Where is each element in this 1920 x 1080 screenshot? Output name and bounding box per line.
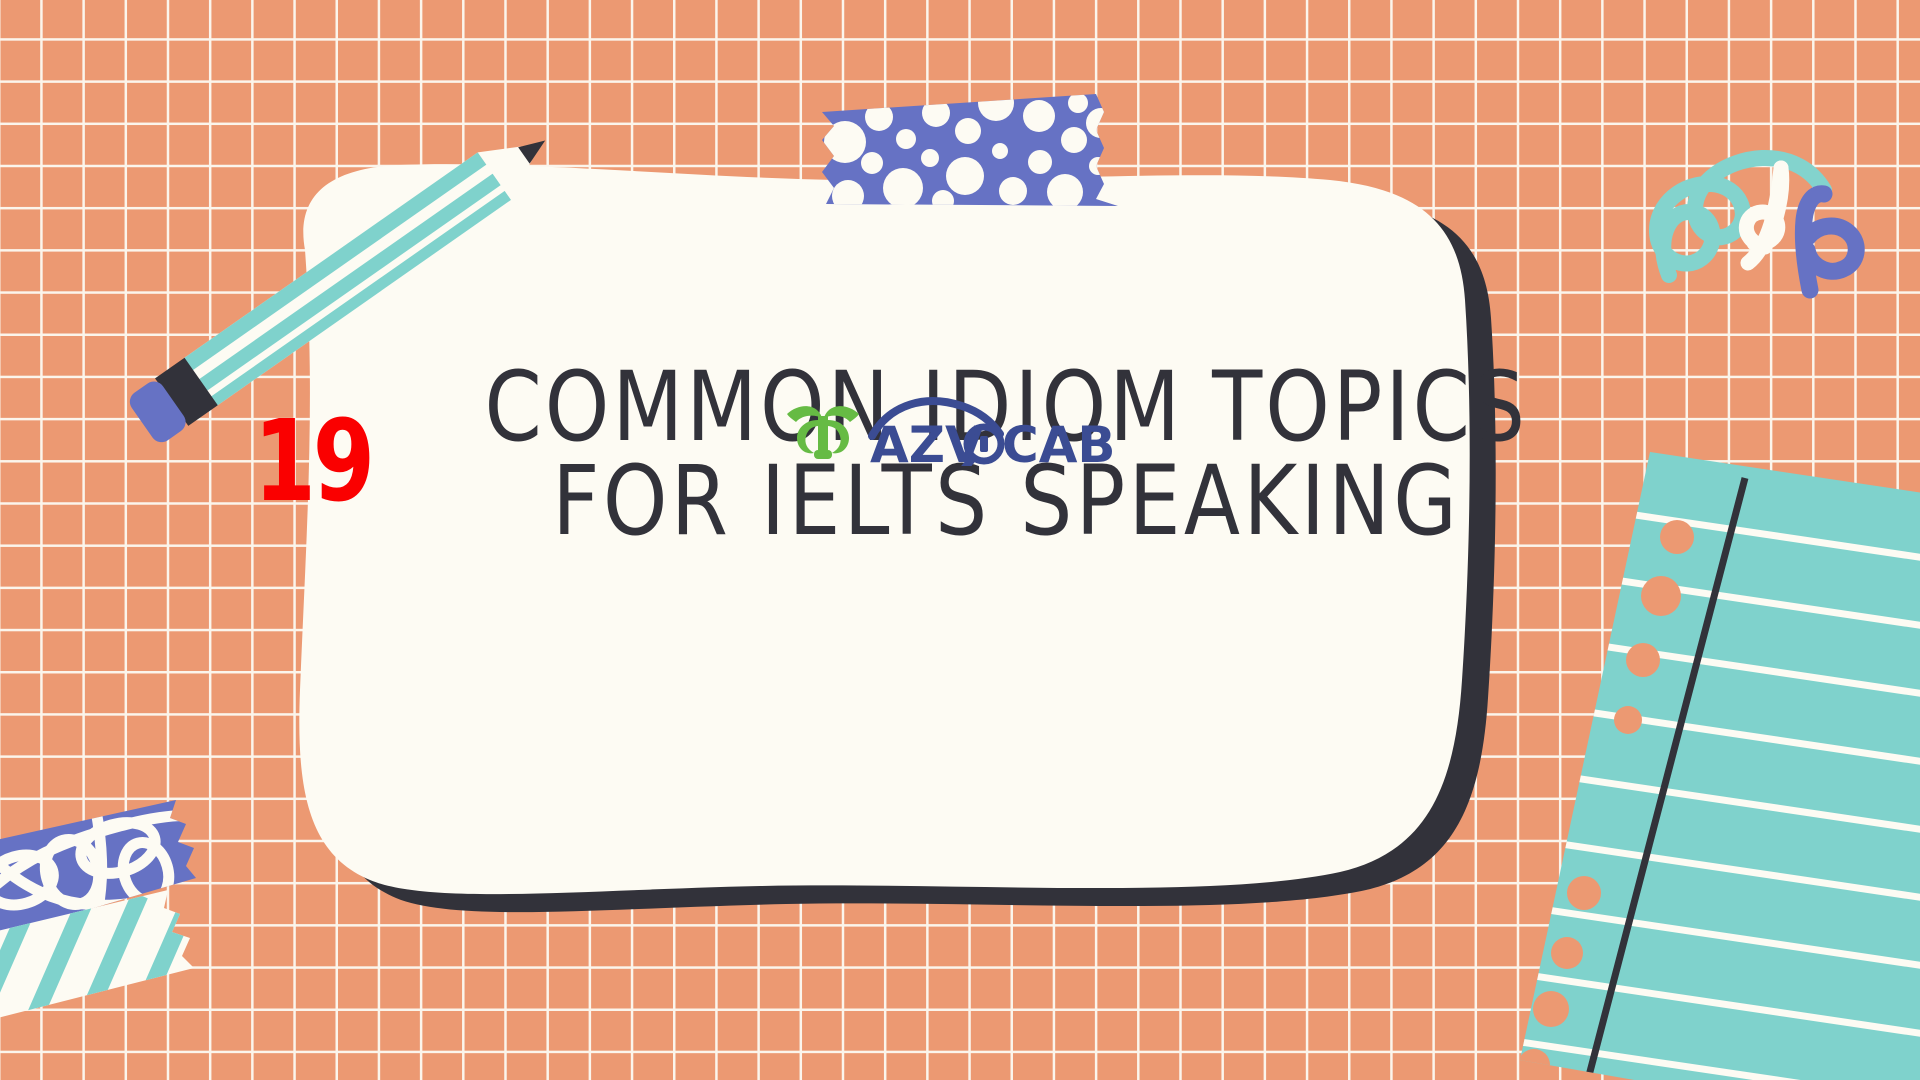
card-content-area: 19 COMMON IDIOM TOPICS FOR IELTS SPEAKIN… (300, 300, 1540, 820)
title-line-2: FOR IELTS SPEAKING (484, 454, 1528, 548)
brand-logo: AZV CAB (784, 392, 1136, 466)
sprout-logo-icon (784, 398, 862, 460)
brand-wordmark: AZV CAB (866, 392, 1136, 466)
count-badge: 19 (253, 406, 371, 518)
svg-text:CAB: CAB (1002, 416, 1116, 466)
poster-canvas: 19 COMMON IDIOM TOPICS FOR IELTS SPEAKIN… (0, 0, 1920, 1080)
